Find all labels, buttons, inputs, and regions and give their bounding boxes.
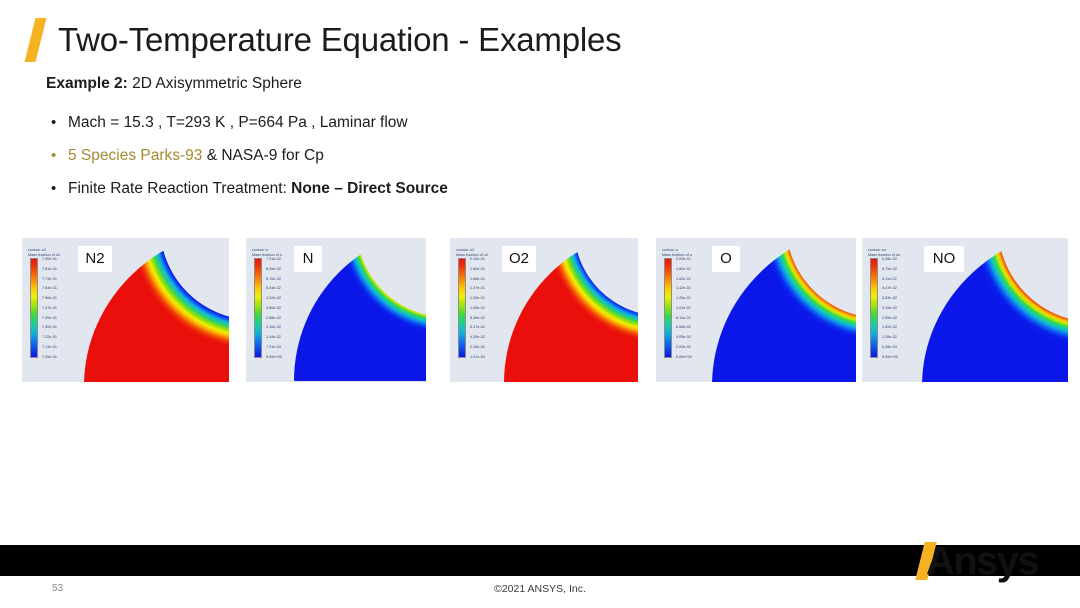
colorbar-legend: contour-noMass fraction of no6.38e-025.7… [868,248,926,358]
species-label-o2: O2 [502,246,536,272]
colorbar-tick-label: 7.22e-01 [42,335,86,339]
colorbar-tick-label: 6.38e-02 [882,257,926,261]
colorbar-tick-label: 3.83e-02 [882,296,926,300]
colorbar-tick-label: 2.03e-02 [676,345,720,349]
colorbar-tick-label: 1.05e-01 [470,306,514,310]
bullet-marker-icon: • [51,139,56,172]
colorbar-tick-label: 1.26e-01 [470,296,514,300]
colorbar-tick-label: 2.55e-02 [882,316,926,320]
colorbar-tick-label: 0.00e+00 [882,355,926,359]
contour-panel-n2[interactable]: contour-n2Mass fraction of n27.90e-017.8… [22,238,229,382]
colorbar-body: 2.03e-011.82e-011.62e-011.42e-011.22e-01… [662,258,720,358]
example-description: 2D Axisymmetric Sphere [128,75,302,92]
colorbar-gradient [254,258,262,358]
colorbar-tick-label: 2.15e-02 [470,345,514,349]
example-label: Example 2: [46,75,128,92]
colorbar-tick-label: 1.01e-03 [470,355,514,359]
ansys-logo: Ansys [916,534,1066,586]
bullet-text: Finite Rate Reaction Treatment: [68,180,291,197]
colorbar-body: 2.10e-011.89e-011.68e-011.47e-011.26e-01… [456,258,514,358]
colorbar-tick-label: 4.32e-02 [266,296,310,300]
colorbar-ticks: 7.31e-026.49e-025.76e-025.04e-024.32e-02… [266,257,310,359]
list-item: • 5 Species Parks-93 & NASA-9 for Cp [46,139,806,172]
colorbar-tick-label: 3.60e-02 [266,306,310,310]
colorbar-tick-label: 1.92e-02 [882,325,926,329]
bullet-text: & NASA-9 for Cp [202,147,323,164]
example-subheading: Example 2: 2D Axisymmetric Sphere [46,74,302,94]
colorbar-tick-label: 1.62e-01 [676,277,720,281]
colorbar-tick-label: 8.46e-02 [470,316,514,320]
colorbar-gradient [458,258,466,358]
colorbar-gradient [870,258,878,358]
colorbar-tick-label: 7.30e-01 [42,325,86,329]
colorbar-ticks: 7.90e-017.81e-017.73e-017.64e-017.56e-01… [42,257,86,359]
colorbar-tick-label: 0.00e+00 [676,355,720,359]
colorbar-tick-label: 3.19e-02 [882,306,926,310]
title-accent-slash-icon [25,18,47,62]
colorbar-tick-label: 7.47e-01 [42,306,86,310]
colorbar-tick-label: 8.11e-02 [676,316,720,320]
contour-panel-o[interactable]: contour-oMass fraction of o2.03e-011.82e… [656,238,856,382]
species-label-no: NO [924,246,964,272]
colorbar-ticks: 2.03e-011.82e-011.62e-011.42e-011.22e-01… [676,257,720,359]
bullet-marker-icon: • [51,172,56,205]
colorbar-tick-label: 1.47e-01 [470,286,514,290]
colorbar-tick-label: 2.16e-02 [266,325,310,329]
species-label-n2: N2 [78,246,112,272]
colorbar-gradient [30,258,38,358]
colorbar-tick-label: 5.75e-02 [882,267,926,271]
colorbar-tick-label: 1.42e-01 [676,286,720,290]
colorbar-body: 7.31e-026.49e-025.76e-025.04e-024.32e-02… [252,258,310,358]
colorbar-tick-label: 7.31e-03 [266,345,310,349]
colorbar-tick-label: 0.00e+00 [266,355,310,359]
colorbar-tick-label: 1.68e-01 [470,277,514,281]
colorbar-tick-label: 6.08e-02 [676,325,720,329]
species-label-o: O [712,246,740,272]
bullet-list: • Mach = 15.3 , T=293 K , P=664 Pa , Lam… [46,106,806,205]
colorbar-tick-label: 5.04e-02 [266,286,310,290]
colorbar-tick-label: 7.05e-01 [42,355,86,359]
colorbar-tick-label: 4.05e-02 [676,335,720,339]
bullet-marker-icon: • [51,106,56,139]
colorbar-ticks: 6.38e-025.75e-025.11e-024.47e-023.83e-02… [882,257,926,359]
list-item: • Finite Rate Reaction Treatment: None –… [46,172,806,205]
bullet-text-bold: None – Direct Source [291,180,448,197]
colorbar-tick-label: 4.26e-02 [470,335,514,339]
slide-title-row: Two-Temperature Equation - Examples [0,8,1080,64]
ansys-logo-text: Ansys [926,540,1038,582]
colorbar-ticks: 2.10e-011.89e-011.68e-011.47e-011.26e-01… [470,257,514,359]
colorbar-tick-label: 6.37e-02 [470,325,514,329]
colorbar-tick-label: 7.39e-01 [42,316,86,320]
colorbar-tick-label: 5.11e-02 [882,277,926,281]
colorbar-tick-label: 1.28e-02 [882,335,926,339]
colorbar-body: 7.90e-017.81e-017.73e-017.64e-017.56e-01… [28,258,86,358]
list-item: • Mach = 15.3 , T=293 K , P=664 Pa , Lam… [46,106,806,139]
bullet-text-highlight: 5 Species Parks-93 [68,147,202,164]
copyright-notice: ©2021 ANSYS, Inc. [0,583,1080,595]
colorbar-tick-label: 6.38e-03 [882,345,926,349]
contour-panel-o2[interactable]: contour-o2Mass fraction of o22.10e-011.8… [450,238,638,382]
colorbar-tick-label: 7.73e-01 [42,277,86,281]
colorbar-tick-label: 1.44e-02 [266,335,310,339]
colorbar-tick-label: 4.47e-02 [882,286,926,290]
colorbar-tick-label: 7.64e-01 [42,286,86,290]
colorbar-tick-label: 7.13e-01 [42,345,86,349]
colorbar-tick-label: 2.88e-02 [266,316,310,320]
contour-panel-strip: contour-n2Mass fraction of n27.90e-017.8… [0,238,1080,390]
contour-panel-no[interactable]: contour-noMass fraction of no6.38e-025.7… [862,238,1068,382]
colorbar-tick-label: 1.01e-01 [676,306,720,310]
species-label-n: N [294,246,322,272]
colorbar-body: 6.38e-025.75e-025.11e-024.47e-023.83e-02… [868,258,926,358]
page-title: Two-Temperature Equation - Examples [58,18,621,62]
colorbar-tick-label: 1.22e-01 [676,296,720,300]
colorbar-gradient [664,258,672,358]
colorbar-tick-label: 5.76e-02 [266,277,310,281]
bullet-text: Mach = 15.3 , T=293 K , P=664 Pa , Lamin… [68,114,408,131]
colorbar-tick-label: 7.56e-01 [42,296,86,300]
contour-panel-n[interactable]: contour-nMass fraction of n7.31e-026.49e… [246,238,426,382]
